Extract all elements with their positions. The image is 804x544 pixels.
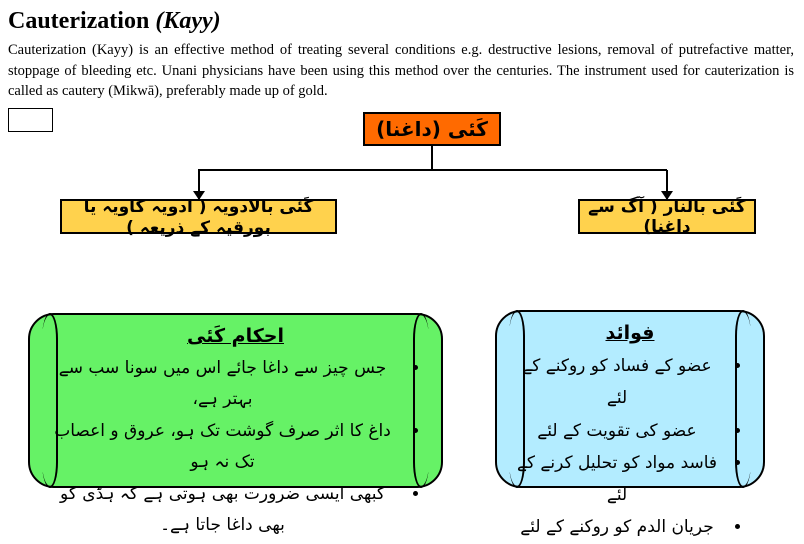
connector-horizontal [198,169,667,171]
page-title-main: Cauterization [8,8,149,34]
intro-paragraph: Cauterization (Kayy) is an effective met… [8,40,794,102]
page-title: Cauterization (Kayy) [8,8,221,35]
panel-fawaid-list: عضو کے فساد کو روکنے کے لئے عضو کی تقویت… [511,350,749,544]
panel-ahkam-e-kayy: احکام کَئی جس چیز سے داغا جائے اس میں سو… [28,313,443,488]
list-item: داغ کا اثر صرف گوشت تک ہو، عروق و اعصاب … [44,416,401,479]
panel-ahkam-list: جس چیز سے داغا جائے اس میں سونا سب سے بہ… [44,353,427,542]
page-title-italic: (Kayy) [155,8,220,34]
list-item: کبھی ایسی ضرورت بھی ہوتی ہے کہ ہڈی کو بھ… [44,479,401,542]
list-item: جس چیز سے داغا جائے اس میں سونا سب سے بہ… [44,353,401,416]
list-item: عضو کی تقویت کے لئے [511,415,723,447]
connector-stem [431,146,433,170]
flowchart-branch-right-label: کَئی بالنار ( آگ سے داغنا) [580,196,754,237]
flowchart-branch-left-label: کَئی بالادویہ ( ادویہ کاویہ یا بورقیہ کے… [62,196,335,238]
flowchart-root-node: کَئی (داغنا) [363,112,501,146]
list-item: جریان الدم کو روکنے کے لئے [511,511,723,543]
panel-fawaid: فوائد عضو کے فساد کو روکنے کے لئے عضو کی… [495,310,765,488]
flowchart-branch-left: کَئی بالادویہ ( ادویہ کاویہ یا بورقیہ کے… [60,199,337,234]
flowchart-branch-right: کَئی بالنار ( آگ سے داغنا) [578,199,756,234]
slide-canvas: Cauterization (Kayy) Cauterization (Kayy… [0,0,804,499]
panel-fawaid-heading: فوائد [511,322,749,344]
list-item: فاسد مواد کو تحلیل کرنے کے لئے [511,447,723,512]
flowchart-root-label: کَئی (داغنا) [376,117,488,141]
empty-placeholder-box [8,108,53,132]
panel-ahkam-heading: احکام کَئی [44,325,427,347]
list-item: عضو کے فساد کو روکنے کے لئے [511,350,723,415]
